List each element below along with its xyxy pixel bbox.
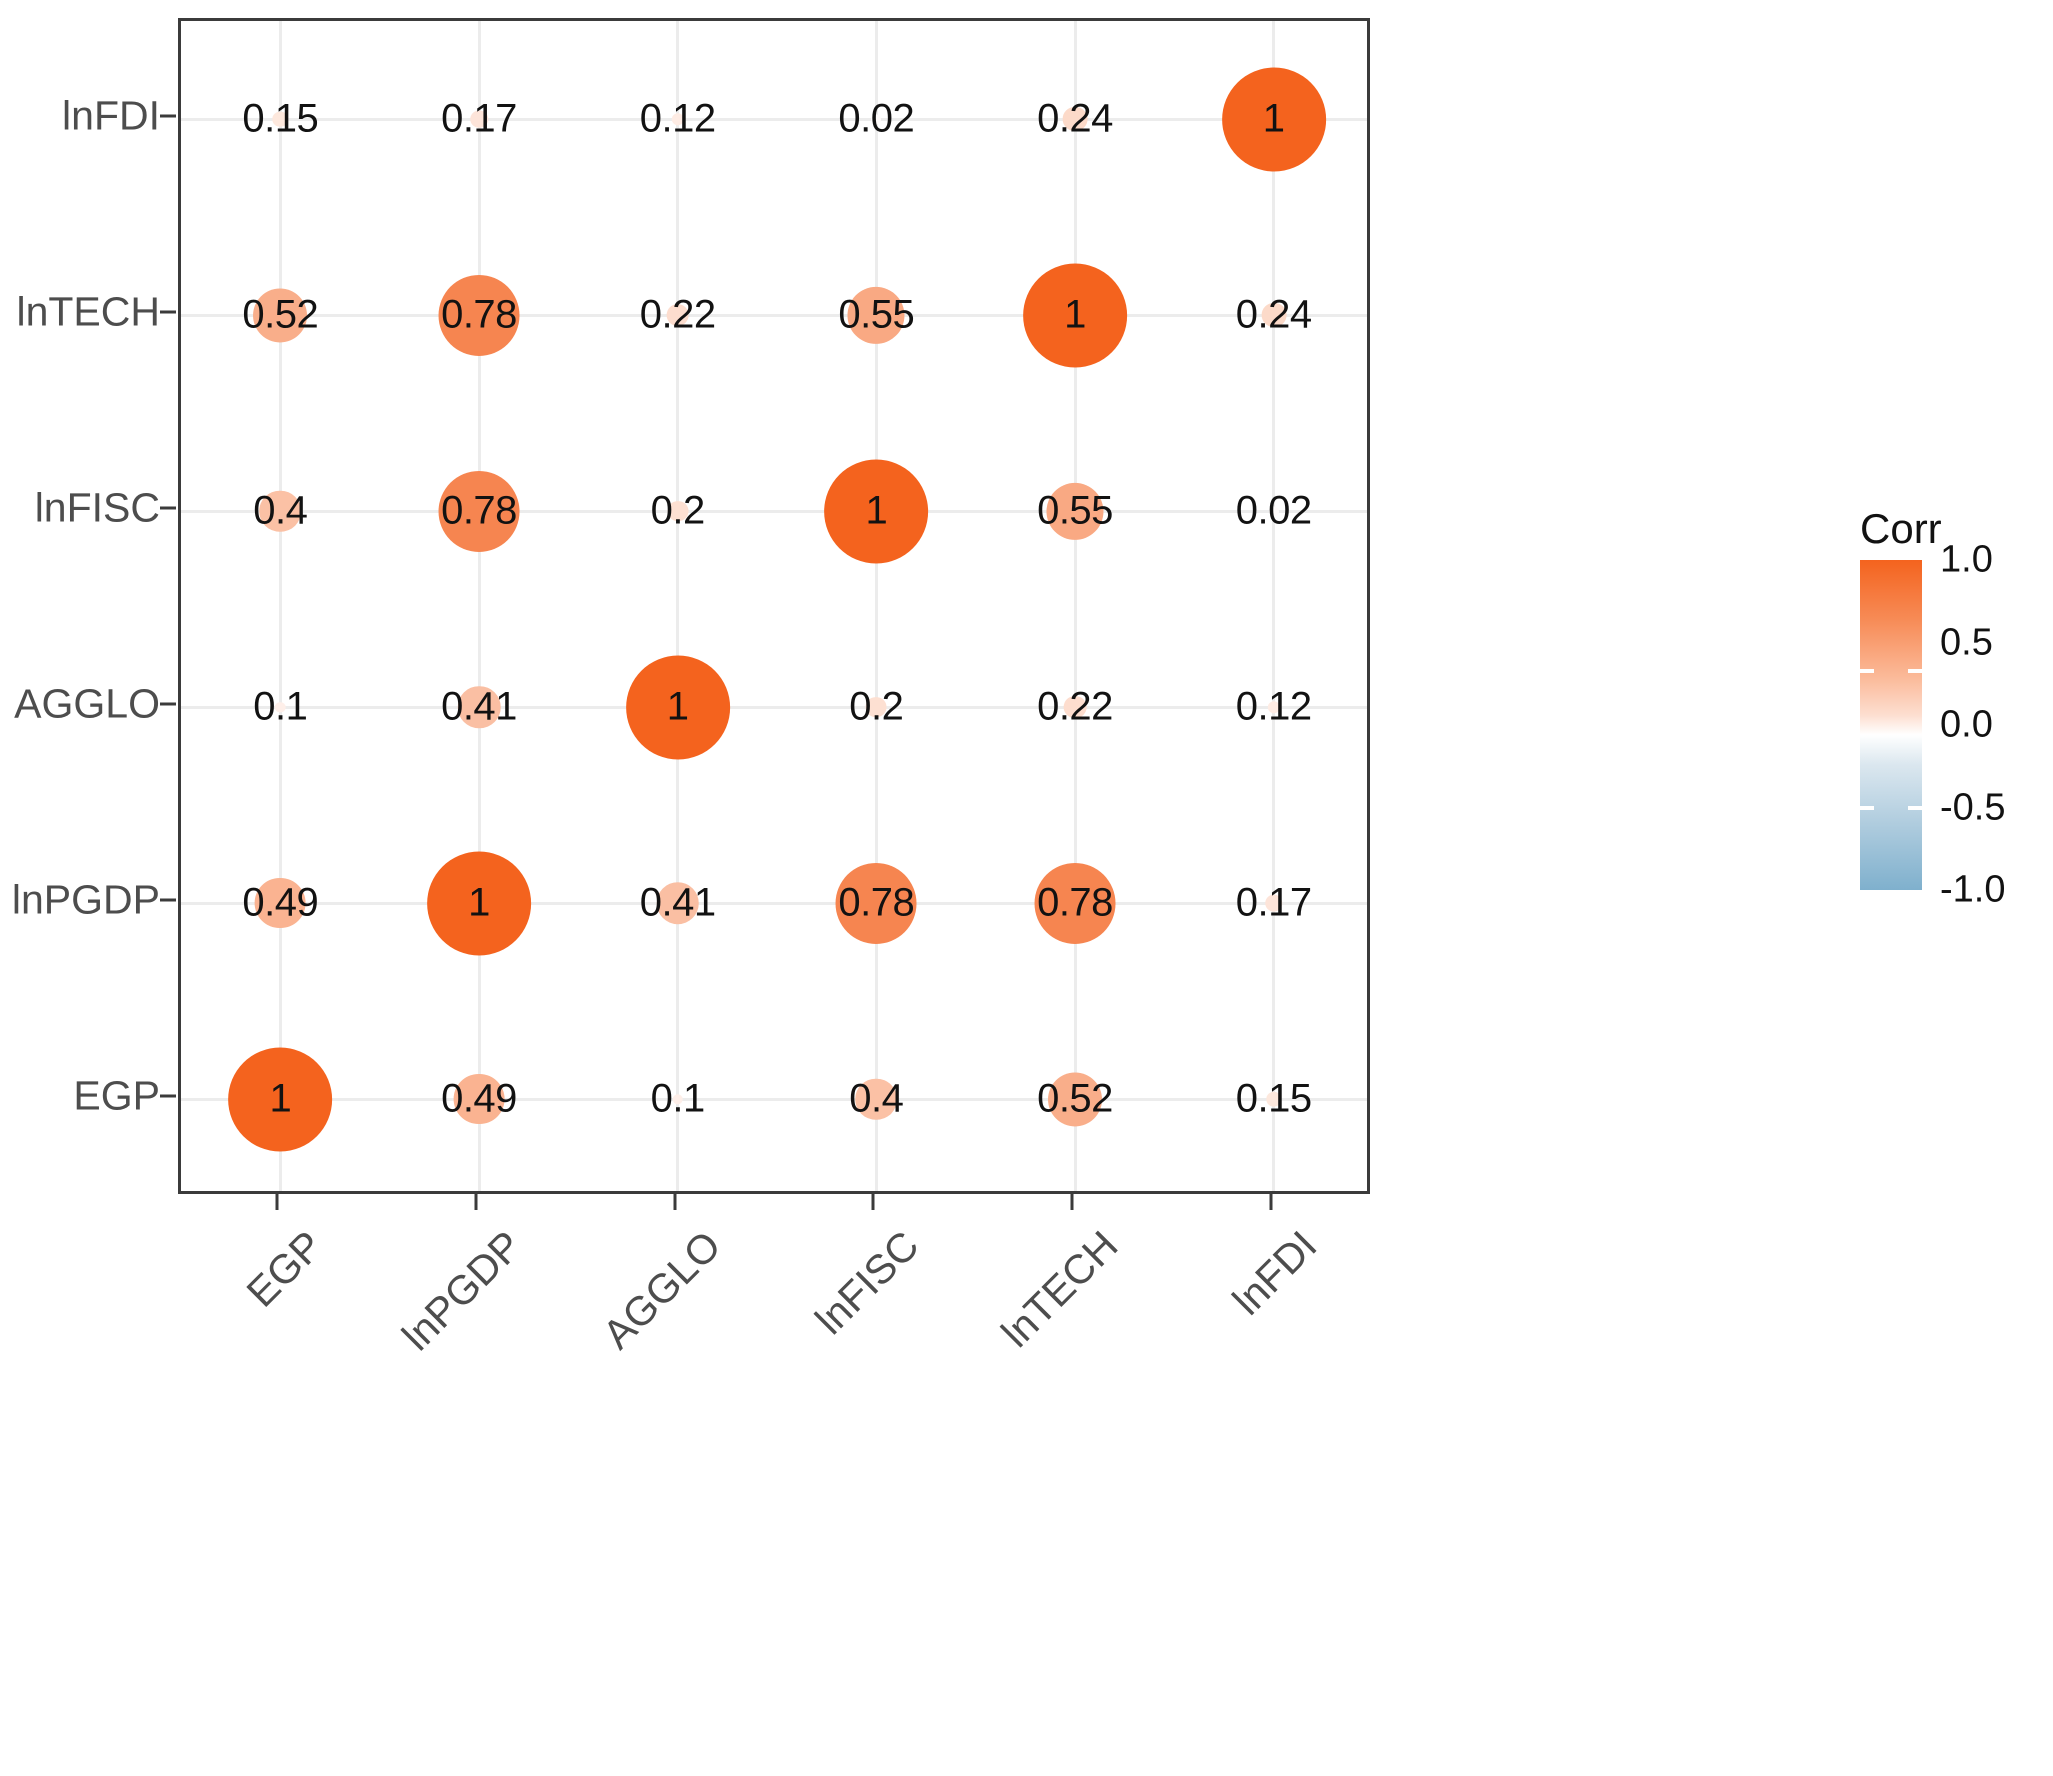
matrix-cell: 0.17: [441, 97, 517, 142]
legend-tick-label: 0.5: [1940, 621, 1993, 664]
gridline-horizontal: [181, 510, 1367, 513]
matrix-cell: 0.15: [242, 97, 318, 142]
matrix-cell: 0.41: [640, 881, 716, 926]
legend-tick-mark: [1908, 806, 1922, 810]
matrix-cell: 0.2: [849, 685, 903, 730]
x-axis-label-lnTECH: lnTECH: [993, 1222, 1128, 1357]
x-axis-label-EGP: EGP: [238, 1222, 332, 1316]
correlation-value-label: 0.78: [838, 881, 914, 926]
correlation-value-label: 0.4: [849, 1077, 903, 1122]
matrix-cell: 0.55: [1037, 489, 1113, 534]
correlation-value-label: 0.17: [441, 97, 517, 142]
legend-tick-mark: [1860, 669, 1874, 673]
gridline-vertical: [676, 21, 679, 1191]
matrix-cell: 0.15: [1236, 1077, 1312, 1122]
matrix-cell: 0.52: [1037, 1077, 1113, 1122]
correlation-value-label: 0.24: [1236, 293, 1312, 338]
correlation-value-label: 0.22: [640, 293, 716, 338]
y-axis: lnFDIlnTECHlnFISCAGGLOlnPGDPEGP: [0, 0, 160, 1776]
correlation-value-label: 0.49: [441, 1077, 517, 1122]
correlation-value-label: 0.15: [1236, 1077, 1312, 1122]
correlation-value-label: 1: [1064, 293, 1086, 338]
matrix-cell: 0.1: [651, 1077, 705, 1122]
correlation-value-label: 0.52: [1037, 1077, 1113, 1122]
correlation-value-label: 1: [468, 881, 490, 926]
correlation-value-label: 0.2: [849, 685, 903, 730]
x-axis-label-lnPGDP: lnPGDP: [393, 1222, 531, 1360]
plot-panel: 0.150.170.120.020.2410.520.780.220.5510.…: [178, 18, 1370, 1194]
x-axis-tick: [673, 1194, 676, 1210]
correlation-value-label: 0.2: [651, 489, 705, 534]
matrix-cell: 0.24: [1037, 97, 1113, 142]
matrix-cell: 0.22: [640, 293, 716, 338]
matrix-cell: 1: [468, 881, 490, 926]
matrix-cell: 0.49: [441, 1077, 517, 1122]
matrix-cell: 0.12: [1236, 685, 1312, 730]
x-axis-tick: [1269, 1194, 1272, 1210]
matrix-cell: 1: [865, 489, 887, 534]
x-axis-label-lnFDI: lnFDI: [1223, 1222, 1326, 1325]
matrix-cell: 0.78: [838, 881, 914, 926]
matrix-cell: 0.4: [849, 1077, 903, 1122]
legend-tick-label: 0.0: [1940, 704, 1993, 747]
legend-tick-label: -1.0: [1940, 869, 2005, 912]
correlation-value-label: 0.22: [1037, 685, 1113, 730]
gridline-horizontal: [181, 118, 1367, 121]
correlation-value-label: 1: [1263, 97, 1285, 142]
correlation-value-label: 0.78: [1037, 881, 1113, 926]
matrix-cell: 0.4: [253, 489, 307, 534]
correlation-value-label: 0.4: [253, 489, 307, 534]
y-axis-label-lnFDI: lnFDI: [62, 93, 160, 140]
matrix-cell: 0.02: [1236, 489, 1312, 534]
y-axis-tick: [160, 1095, 176, 1098]
y-axis-tick: [160, 115, 176, 118]
y-axis-label-lnFISC: lnFISC: [35, 485, 160, 532]
matrix-cell: 1: [1064, 293, 1086, 338]
correlation-value-label: 0.78: [441, 489, 517, 534]
correlation-value-label: 0.1: [651, 1077, 705, 1122]
y-axis-tick: [160, 507, 176, 510]
matrix-cell: 0.24: [1236, 293, 1312, 338]
matrix-cell: 0.41: [441, 685, 517, 730]
correlation-value-label: 0.15: [242, 97, 318, 142]
gridline-horizontal: [181, 706, 1367, 709]
gridline-vertical: [1074, 21, 1077, 1191]
y-axis-label-lnTECH: lnTECH: [16, 289, 160, 336]
matrix-cell: 1: [667, 685, 689, 730]
x-axis-label-lnFISC: lnFISC: [807, 1222, 929, 1344]
gridline-vertical: [1272, 21, 1275, 1191]
gridline-vertical: [875, 21, 878, 1191]
matrix-cell: 0.55: [838, 293, 914, 338]
matrix-cell: 0.1: [253, 685, 307, 730]
matrix-cell: 0.22: [1037, 685, 1113, 730]
gridline-horizontal: [181, 1098, 1367, 1101]
x-axis-tick: [276, 1194, 279, 1210]
correlation-value-label: 0.24: [1037, 97, 1113, 142]
correlation-value-label: 0.78: [441, 293, 517, 338]
x-axis-tick: [475, 1194, 478, 1210]
legend-colorbar: [1860, 560, 1922, 890]
correlation-value-label: 1: [269, 1077, 291, 1122]
y-axis-tick: [160, 311, 176, 314]
matrix-cell: 0.52: [242, 293, 318, 338]
legend-tick-mark: [1908, 669, 1922, 673]
legend-tick-mark: [1860, 806, 1874, 810]
matrix-cell: 0.78: [1037, 881, 1113, 926]
x-axis-label-AGGLO: AGGLO: [594, 1222, 730, 1358]
correlation-value-label: 0.49: [242, 881, 318, 926]
x-axis-tick: [1071, 1194, 1074, 1210]
x-axis-tick: [872, 1194, 875, 1210]
y-axis-tick: [160, 899, 176, 902]
correlation-value-label: 0.02: [1236, 489, 1312, 534]
matrix-cell: 0.2: [651, 489, 705, 534]
matrix-cell: 1: [1263, 97, 1285, 142]
y-axis-label-EGP: EGP: [73, 1073, 160, 1120]
gridline-horizontal: [181, 314, 1367, 317]
correlation-value-label: 1: [865, 489, 887, 534]
matrix-cell: 0.78: [441, 489, 517, 534]
y-axis-label-lnPGDP: lnPGDP: [12, 877, 160, 924]
correlation-value-label: 0.41: [640, 881, 716, 926]
correlation-value-label: 0.02: [838, 97, 914, 142]
gridline-vertical: [279, 21, 282, 1191]
correlation-matrix-figure: 0.150.170.120.020.2410.520.780.220.5510.…: [0, 0, 2053, 1776]
matrix-cell: 0.49: [242, 881, 318, 926]
correlation-value-label: 0.1: [253, 685, 307, 730]
matrix-cell: 0.17: [1236, 881, 1312, 926]
y-axis-label-AGGLO: AGGLO: [14, 681, 160, 728]
correlation-value-label: 0.41: [441, 685, 517, 730]
legend-title: Corr: [1860, 505, 1942, 553]
y-axis-tick: [160, 703, 176, 706]
legend-tick-label: 1.0: [1940, 539, 1993, 582]
matrix-cell: 1: [269, 1077, 291, 1122]
correlation-value-label: 0.55: [1037, 489, 1113, 534]
gridline-horizontal: [181, 902, 1367, 905]
matrix-cell: 0.12: [640, 97, 716, 142]
correlation-value-label: 0.55: [838, 293, 914, 338]
correlation-value-label: 0.17: [1236, 881, 1312, 926]
legend-tick-label: -0.5: [1940, 786, 2005, 829]
correlation-value-label: 0.12: [1236, 685, 1312, 730]
matrix-cell: 0.78: [441, 293, 517, 338]
gridline-vertical: [478, 21, 481, 1191]
correlation-value-label: 0.52: [242, 293, 318, 338]
correlation-value-label: 0.12: [640, 97, 716, 142]
correlation-value-label: 1: [667, 685, 689, 730]
matrix-cell: 0.02: [838, 97, 914, 142]
